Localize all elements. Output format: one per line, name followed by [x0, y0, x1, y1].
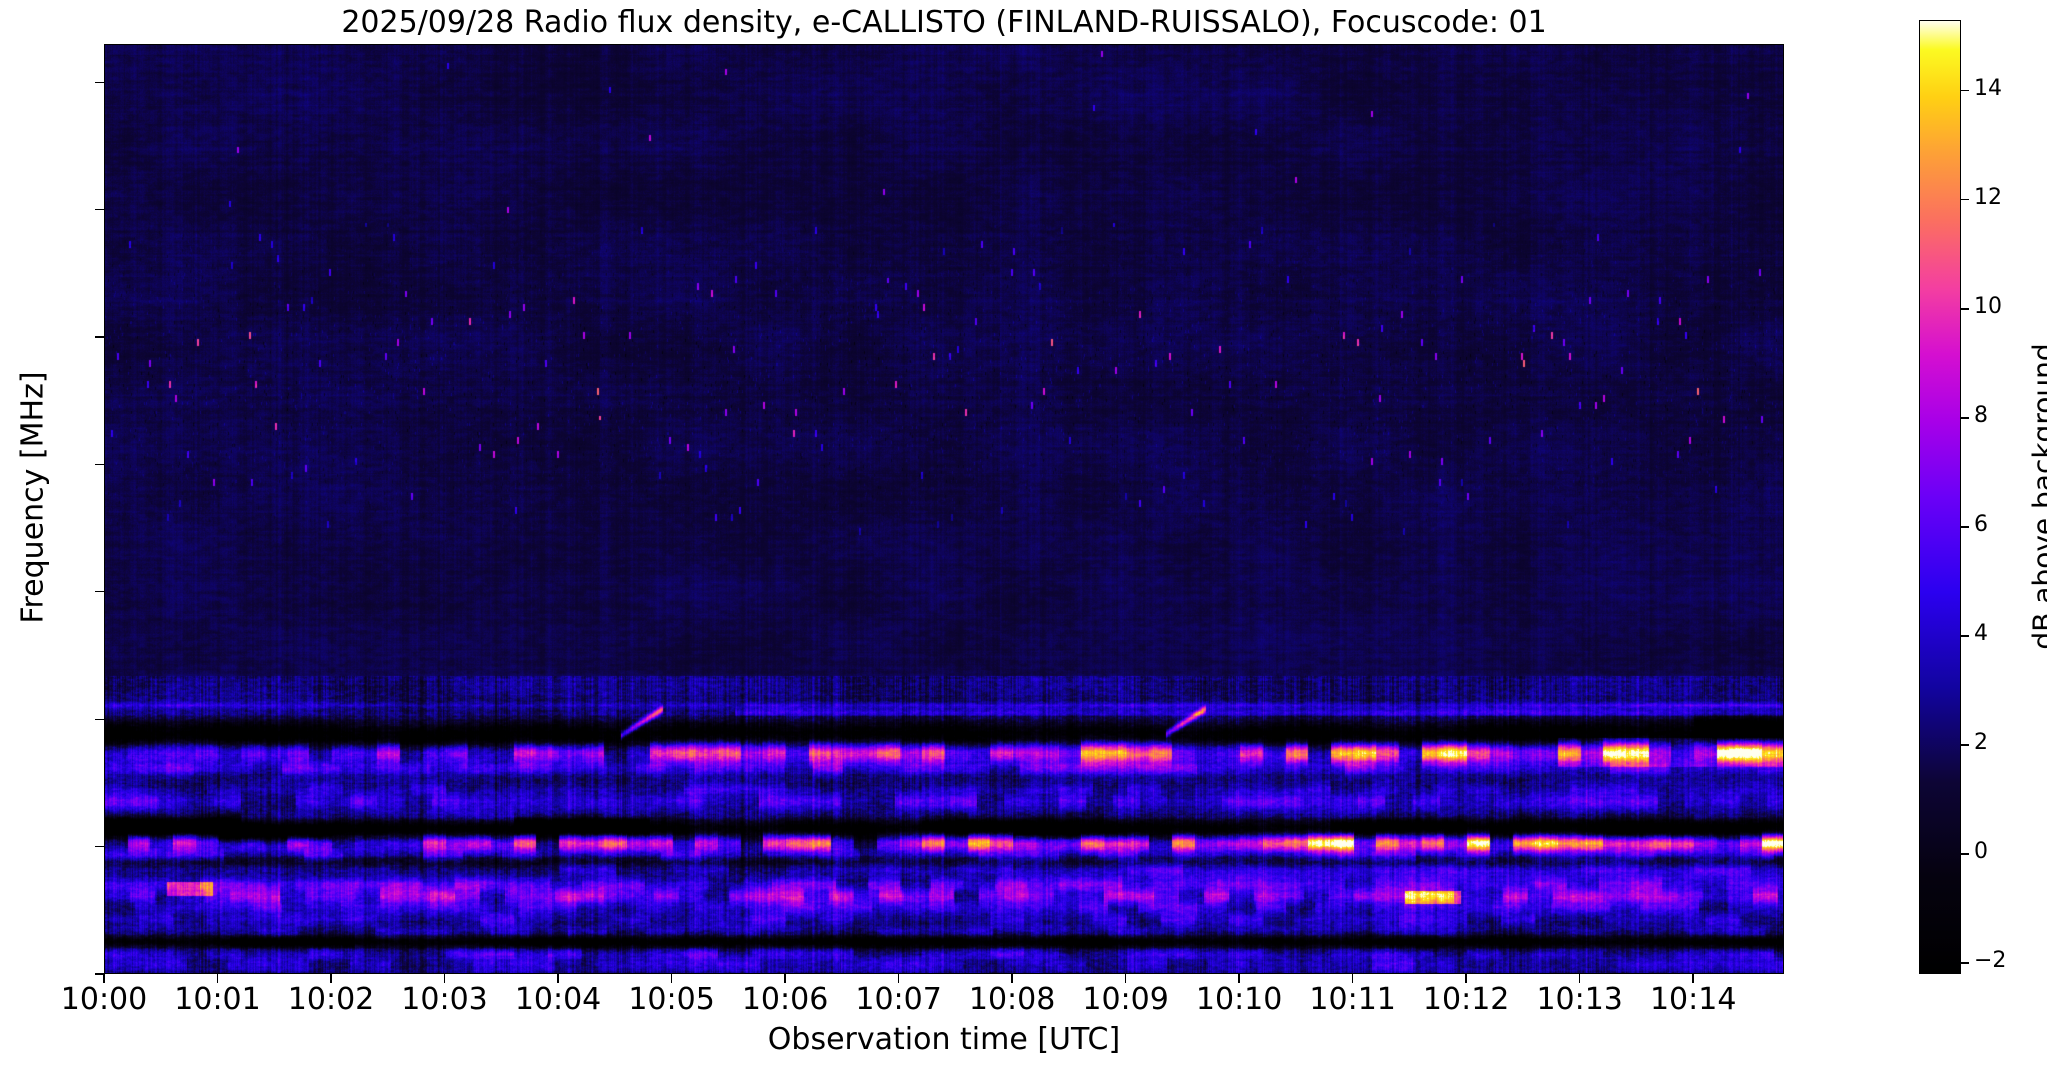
x-tick-mark	[1692, 974, 1693, 983]
y-tick-mark	[95, 846, 104, 847]
colorbar-tick-mark	[1961, 199, 1969, 200]
colorbar-tick-label: −2	[1974, 948, 2034, 973]
y-tick-mark	[95, 209, 104, 210]
x-tick-mark	[898, 974, 899, 983]
colorbar-tick-label: 10	[1974, 294, 2034, 319]
colorbar-tick-mark	[1961, 853, 1969, 854]
colorbar-tick-mark	[1961, 962, 1969, 963]
spectrogram-axes[interactable]	[104, 44, 1784, 974]
colorbar-tick-mark	[1961, 417, 1969, 418]
colorbar-tick-mark	[1961, 308, 1969, 309]
x-tick-mark	[1238, 974, 1239, 983]
y-tick-mark	[95, 719, 104, 720]
x-tick-mark	[1352, 974, 1353, 983]
x-tick-mark	[330, 974, 331, 983]
x-tick-mark	[1011, 974, 1012, 983]
x-tick-label: 10:14	[1608, 982, 1778, 1017]
x-tick-mark	[784, 974, 785, 983]
y-axis-label: Frequency [MHz]	[16, 178, 51, 818]
colorbar-gradient	[1920, 21, 1960, 973]
colorbar-tick-label: 6	[1974, 512, 2034, 537]
x-tick-mark	[103, 974, 104, 983]
x-tick-mark	[217, 974, 218, 983]
spectrogram-image	[105, 45, 1784, 974]
colorbar-tick-mark	[1961, 526, 1969, 527]
colorbar-tick-mark	[1961, 90, 1969, 91]
x-tick-mark	[444, 974, 445, 983]
colorbar-tick-mark	[1961, 744, 1969, 745]
colorbar-label: dB above background	[2027, 177, 2047, 817]
colorbar-tick-mark	[1961, 635, 1969, 636]
x-tick-mark	[671, 974, 672, 983]
x-tick-mark	[1465, 974, 1466, 983]
colorbar-tick-label: 0	[1974, 839, 2034, 864]
y-tick-mark	[95, 464, 104, 465]
colorbar-tick-label: 8	[1974, 403, 2034, 428]
y-tick-mark	[95, 82, 104, 83]
figure-canvas: 2025/09/28 Radio flux density, e-CALLIST…	[0, 0, 2047, 1067]
y-tick-mark	[95, 591, 104, 592]
x-tick-mark	[1125, 974, 1126, 983]
x-tick-mark	[1579, 974, 1580, 983]
x-axis-label: Observation time [UTC]	[104, 1022, 1784, 1057]
colorbar-tick-label: 4	[1974, 621, 2034, 646]
colorbar-tick-label: 2	[1974, 730, 2034, 755]
colorbar	[1919, 20, 1961, 974]
colorbar-tick-label: 14	[1974, 76, 2034, 101]
x-tick-mark	[557, 974, 558, 983]
y-tick-mark	[95, 336, 104, 337]
colorbar-tick-label: 12	[1974, 185, 2034, 210]
plot-title: 2025/09/28 Radio flux density, e-CALLIST…	[104, 6, 1784, 40]
